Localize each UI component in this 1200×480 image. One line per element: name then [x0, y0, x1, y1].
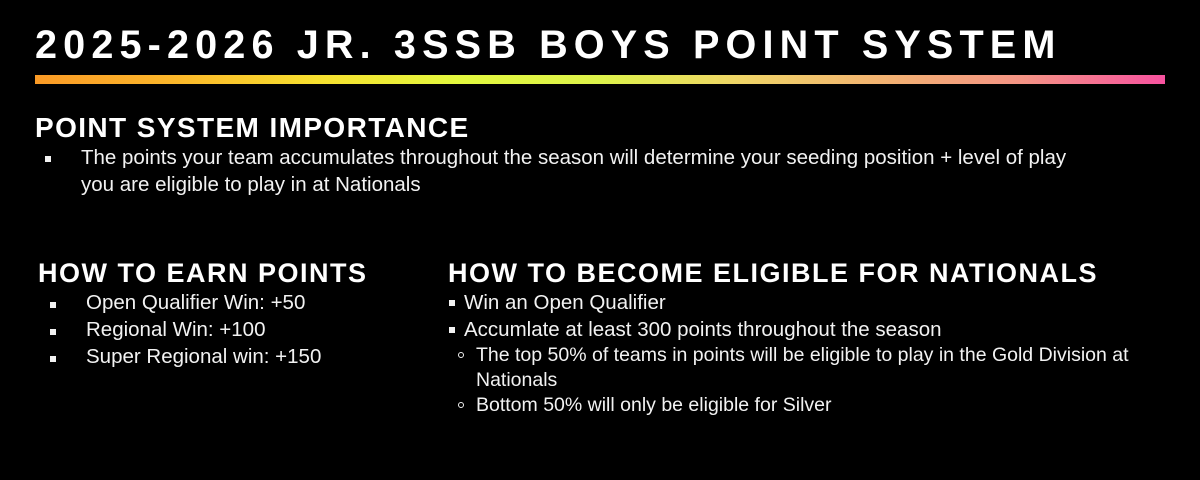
list-item-text: Win an Open Qualifier	[464, 291, 666, 314]
section-how-to-become-eligible: HOW TO BECOME ELIGIBLE FOR NATIONALS Win…	[448, 258, 1148, 418]
section-how-to-earn-points: HOW TO EARN POINTS Open Qualifier Win: +…	[38, 258, 428, 370]
list-item-text: The points your team accumulates through…	[81, 146, 1066, 196]
eligible-bullet-list: Win an Open Qualifier Accumlate at least…	[448, 289, 1148, 343]
heading-how-to-become-eligible: HOW TO BECOME ELIGIBLE FOR NATIONALS	[448, 258, 1148, 289]
list-item: Open Qualifier Win: +50	[38, 289, 428, 316]
list-item-text: Accumlate at least 300 points throughout…	[464, 318, 942, 341]
gradient-accent-bar	[35, 75, 1165, 84]
circle-bullet-icon	[458, 352, 464, 358]
list-item-text: Super Regional win: +150	[86, 345, 321, 368]
list-item: Regional Win: +100	[38, 316, 428, 343]
list-item-text: Regional Win: +100	[86, 318, 266, 341]
sub-list-item-text: Bottom 50% will only be eligible for Sil…	[476, 394, 832, 416]
importance-bullet-list: The points your team accumulates through…	[35, 144, 1135, 198]
list-item: Super Regional win: +150	[38, 343, 428, 370]
eligible-sub-bullet-list: The top 50% of teams in points will be e…	[448, 343, 1148, 418]
earn-points-bullet-list: Open Qualifier Win: +50 Regional Win: +1…	[38, 289, 428, 370]
page-title: 2025-2026 JR. 3SSB BOYS POINT SYSTEM	[35, 22, 1154, 68]
sub-list-item-text: The top 50% of teams in points will be e…	[476, 344, 1129, 391]
square-bullet-icon	[45, 156, 51, 162]
square-bullet-icon	[50, 329, 56, 335]
square-bullet-icon	[50, 302, 56, 308]
list-item: Accumlate at least 300 points throughout…	[448, 316, 1148, 343]
square-bullet-icon	[449, 327, 455, 333]
list-item: Win an Open Qualifier	[448, 289, 1148, 316]
title-block: 2025-2026 JR. 3SSB BOYS POINT SYSTEM	[35, 22, 1165, 84]
sub-list-item: The top 50% of teams in points will be e…	[457, 343, 1148, 393]
slide-canvas: 2025-2026 JR. 3SSB BOYS POINT SYSTEM POI…	[0, 0, 1200, 480]
heading-how-to-earn-points: HOW TO EARN POINTS	[38, 258, 428, 289]
list-item-text: Open Qualifier Win: +50	[86, 291, 305, 314]
sub-list-item: Bottom 50% will only be eligible for Sil…	[457, 393, 1148, 418]
list-item: The points your team accumulates through…	[35, 144, 1081, 198]
circle-bullet-icon	[458, 402, 464, 408]
heading-point-system-importance: POINT SYSTEM IMPORTANCE	[35, 112, 1135, 144]
square-bullet-icon	[449, 300, 455, 306]
square-bullet-icon	[50, 356, 56, 362]
section-point-system-importance: POINT SYSTEM IMPORTANCE The points your …	[35, 112, 1135, 198]
